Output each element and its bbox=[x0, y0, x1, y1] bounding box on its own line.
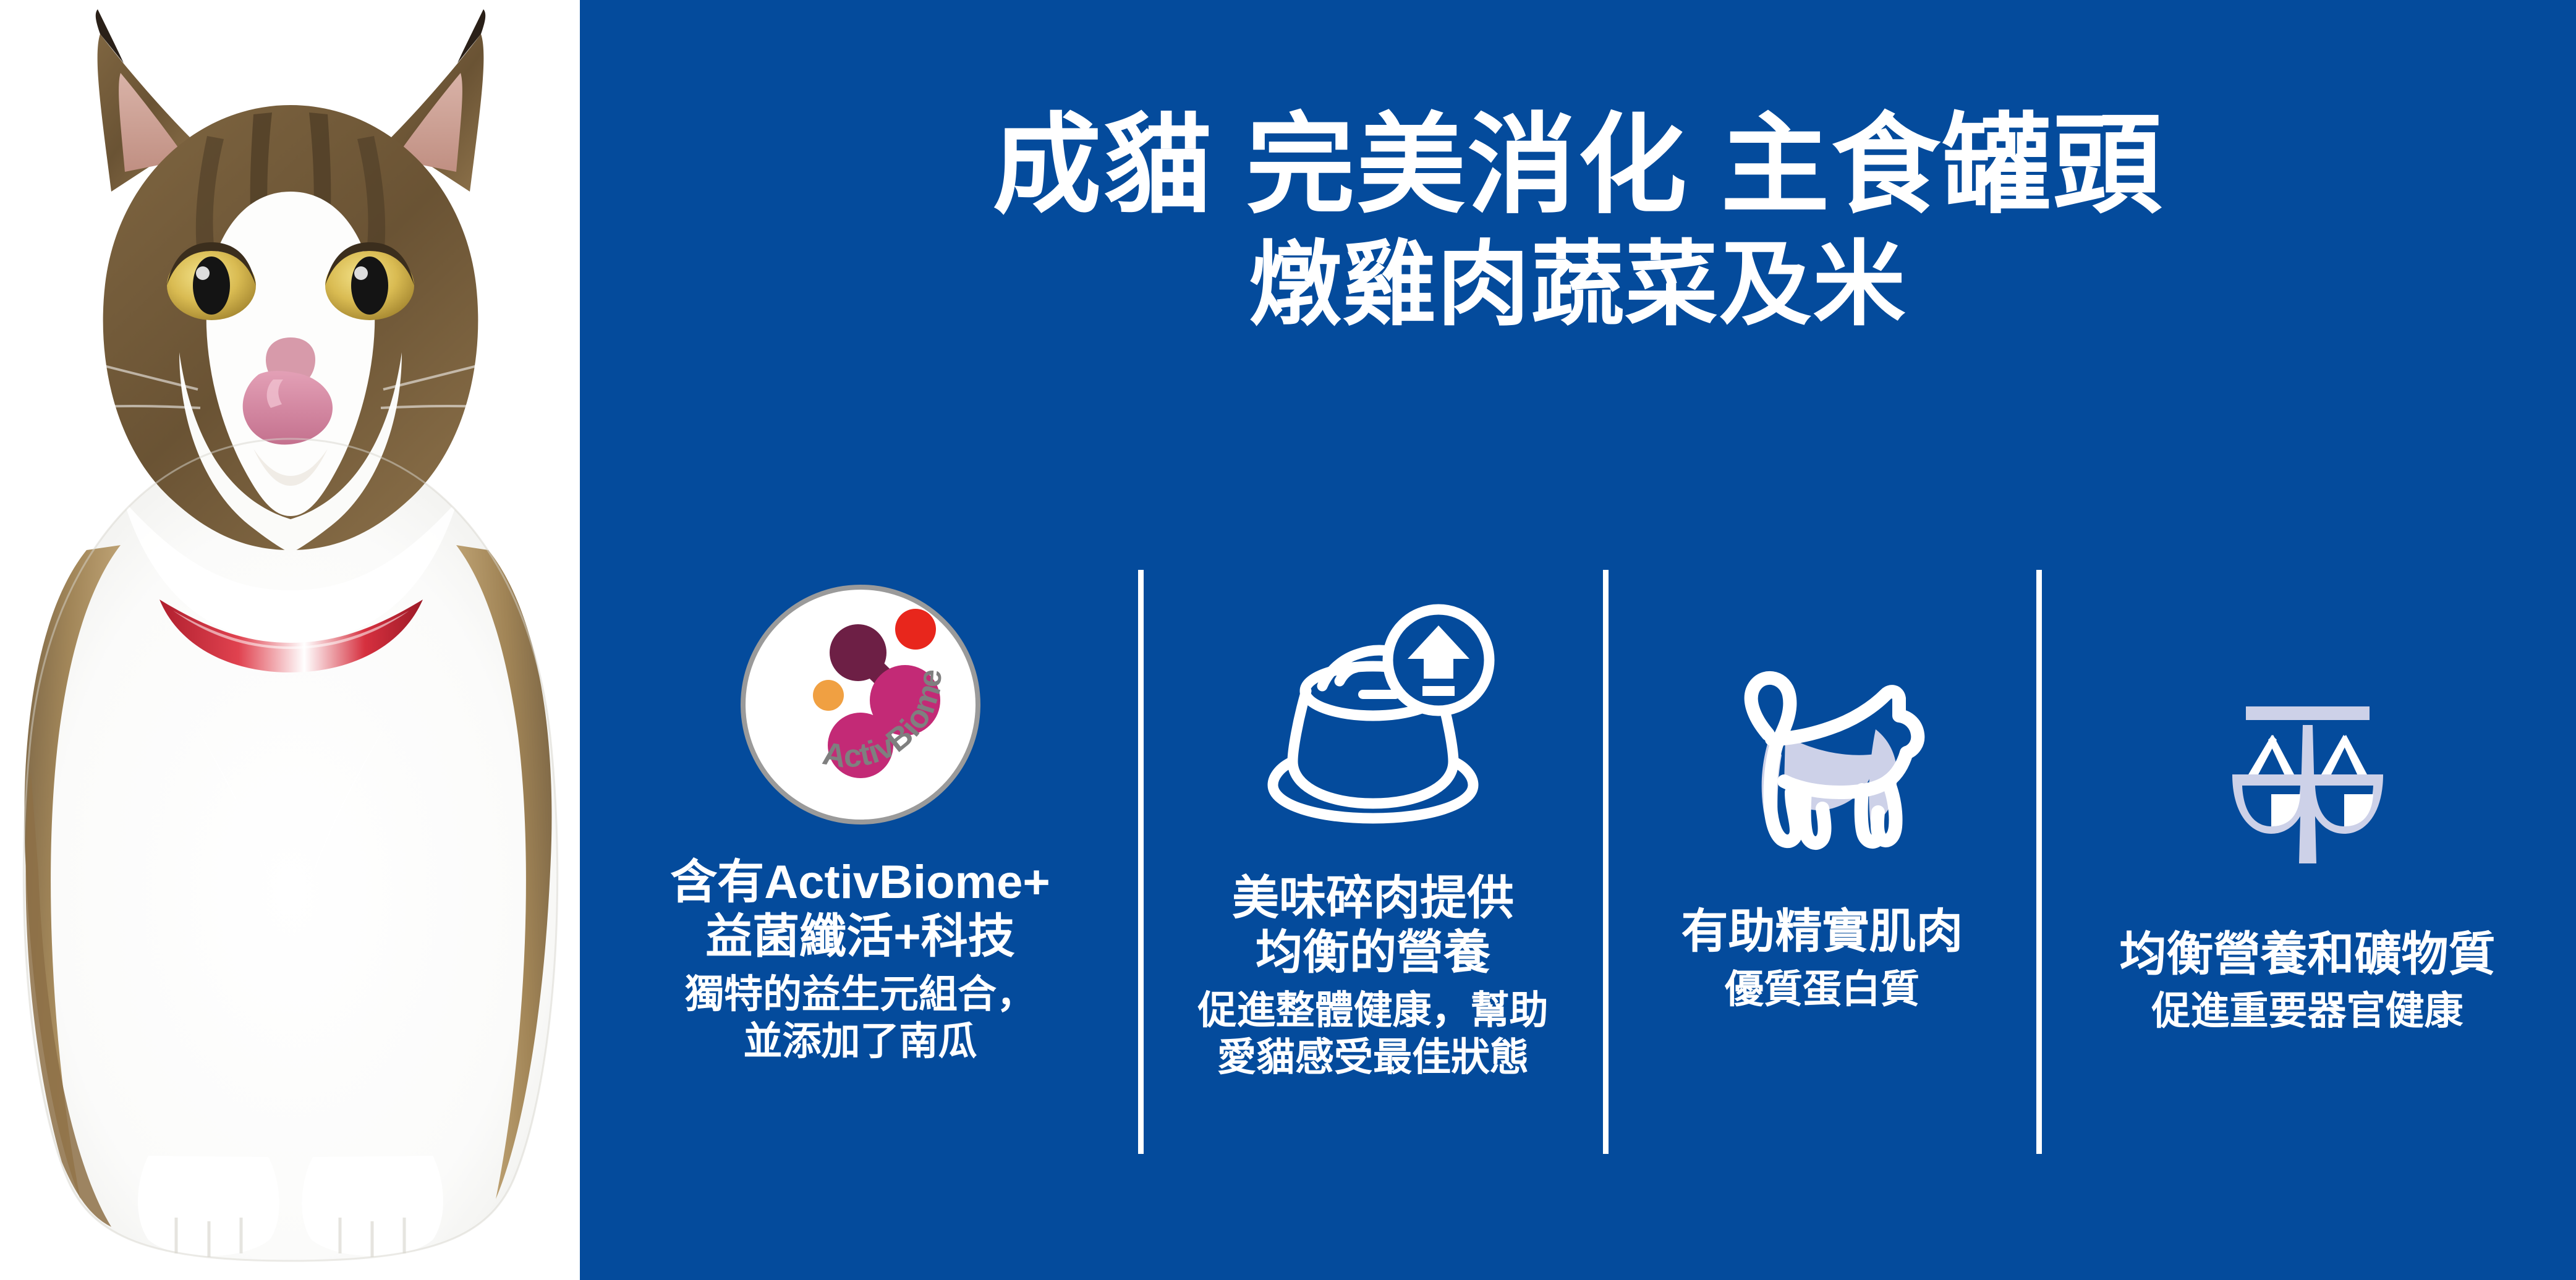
feature-4-title-line-1: 均衡營養和礦物質 bbox=[2120, 928, 2496, 982]
balance-scale-icon bbox=[2184, 695, 2431, 905]
feature-1-title: 含有ActivBiome+ 益菌纖活+科技 bbox=[670, 855, 1050, 964]
activbiome-badge-icon: ActivBiome+ bbox=[737, 581, 984, 828]
headline-line-2: 燉雞肉蔬菜及米 bbox=[580, 232, 2576, 336]
feature-1-sub-line-2: 並添加了南瓜 bbox=[685, 1019, 1035, 1066]
headline-block: 成貓 完美消化 主食罐頭 燉雞肉蔬菜及米 bbox=[580, 108, 2576, 336]
feature-2-icon-slot bbox=[1141, 556, 1605, 847]
feature-2-title: 美味碎肉提供 均衡的營養 bbox=[1232, 871, 1514, 980]
info-panel: 成貓 完美消化 主食罐頭 燉雞肉蔬菜及米 bbox=[580, 0, 2576, 1280]
feature-4-icon-slot bbox=[2039, 556, 2576, 905]
feature-4-sub-line-1: 促進重要器官健康 bbox=[2152, 988, 2463, 1035]
feature-1-title-line-2: 益菌纖活+科技 bbox=[670, 910, 1050, 964]
feature-1-title-line-1: 含有ActivBiome+ bbox=[670, 855, 1050, 910]
feature-3-sub-line-1: 優質蛋白質 bbox=[1725, 967, 1919, 1014]
feature-4-subtitle: 促進重要器官健康 bbox=[2152, 988, 2463, 1035]
bowl-food-detail-1 bbox=[1340, 668, 1356, 681]
cat-right-eye-glint bbox=[354, 266, 368, 280]
scale-beam bbox=[2246, 706, 2370, 720]
feature-balanced-nutrition: 美味碎肉提供 均衡的營養 促進整體健康，幫助 愛貓感受最佳狀態 bbox=[1141, 556, 1605, 1150]
feature-1-icon-slot: ActivBiome+ bbox=[580, 556, 1141, 828]
feature-2-subtitle: 促進整體健康，幫助 愛貓感受最佳狀態 bbox=[1198, 988, 1549, 1081]
feature-row: ActivBiome+ 含有ActivBiome+ 益菌纖活+科技 獨特的益生元… bbox=[580, 556, 2576, 1150]
cat-muscle-icon bbox=[1699, 630, 1946, 878]
cat-photo-panel bbox=[0, 0, 580, 1280]
feature-1-sub-line-1: 獨特的益生元組合， bbox=[685, 972, 1035, 1019]
feature-3-title: 有助精實肌肉 bbox=[1681, 905, 1963, 959]
arrow-base-bar bbox=[1422, 686, 1455, 696]
feature-2-sub-line-2: 愛貓感受最佳狀態 bbox=[1198, 1035, 1549, 1082]
feature-activbiome: ActivBiome+ 含有ActivBiome+ 益菌纖活+科技 獨特的益生元… bbox=[580, 556, 1141, 1150]
feature-balanced-minerals: 均衡營養和礦物質 促進重要器官健康 bbox=[2039, 556, 2576, 1150]
feature-3-icon-slot bbox=[1605, 556, 2039, 878]
feature-1-subtitle: 獨特的益生元組合， 並添加了南瓜 bbox=[685, 972, 1035, 1065]
scale-left-string-b bbox=[2268, 735, 2294, 777]
feature-2-title-line-2: 均衡的營養 bbox=[1232, 926, 1514, 980]
scale-right-string-b bbox=[2341, 735, 2367, 777]
node-red-dot bbox=[895, 609, 936, 650]
headline-line-1: 成貓 完美消化 主食罐頭 bbox=[580, 108, 2576, 224]
feature-3-title-line-1: 有助精實肌肉 bbox=[1681, 905, 1963, 959]
cat-photo bbox=[0, 6, 580, 1279]
cat-right-pupil bbox=[351, 256, 388, 315]
food-bowl-up-arrow-icon bbox=[1249, 600, 1497, 847]
cat-left-eye-glint bbox=[196, 266, 210, 280]
feature-lean-muscle: 有助精實肌肉 優質蛋白質 bbox=[1605, 556, 2039, 1150]
feature-4-title: 均衡營養和礦物質 bbox=[2120, 928, 2496, 982]
feature-2-title-line-1: 美味碎肉提供 bbox=[1232, 871, 1514, 926]
cat-left-pupil bbox=[193, 256, 230, 315]
feature-3-subtitle: 優質蛋白質 bbox=[1725, 967, 1919, 1014]
product-banner: 成貓 完美消化 主食罐頭 燉雞肉蔬菜及米 bbox=[0, 0, 2576, 1280]
node-maroon bbox=[830, 624, 886, 681]
node-orange-dot bbox=[813, 680, 844, 711]
feature-2-sub-line-1: 促進整體健康，幫助 bbox=[1198, 988, 1549, 1035]
